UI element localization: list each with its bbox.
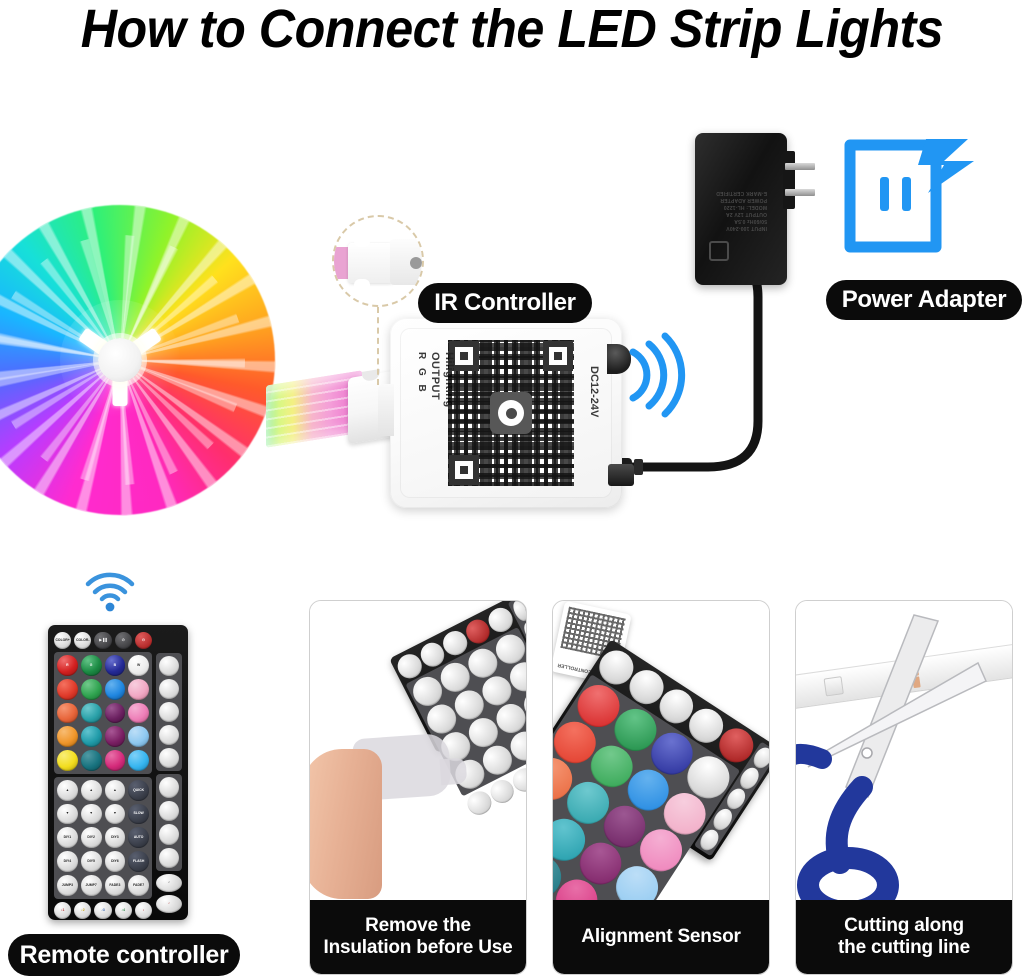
button-power[interactable]: ⏻	[135, 632, 152, 649]
button-play-pause[interactable]: ▶▐▐	[94, 632, 111, 649]
color-button[interactable]	[81, 726, 102, 747]
side-button-b-up[interactable]	[159, 702, 179, 722]
adapter-print-text: INPUT 100-240V 50/60Hz 0.5AOUTPUT 12V 2A…	[705, 157, 767, 231]
callout-pin	[410, 257, 422, 269]
callout-leader-line	[377, 307, 379, 385]
color-button[interactable]	[128, 703, 149, 724]
remote-side-panel-bottom	[156, 774, 182, 871]
color-button[interactable]	[81, 679, 102, 700]
button-blue[interactable]: B	[105, 655, 126, 676]
remote-body: COLOR+ COLOR- ▶▐▐ ⏻ ⏻ R G B W	[48, 625, 188, 920]
remote-row-music: ♪1 ♪2 ♪3 ♪4 ♪	[54, 902, 152, 919]
button-red-down[interactable]: ▼	[57, 804, 78, 825]
button-color-down[interactable]: COLOR-	[74, 632, 91, 649]
button-green-up[interactable]: ▲	[81, 780, 102, 801]
remote-row-diy2: DIY4 DIY5 DIY6 FLASH	[57, 851, 149, 872]
label-power-adapter: Power Adapter	[826, 280, 1022, 320]
color-button[interactable]	[105, 750, 126, 771]
qr-finder-icon	[449, 341, 479, 371]
adapter-prong-base	[783, 151, 795, 209]
remote-row-bright-up: ▲ ▲ ▲ QUICK	[57, 780, 149, 801]
side-button-music-m[interactable]: ♪	[156, 895, 182, 913]
dc-input-jack	[608, 464, 634, 486]
button-music3[interactable]: ♪3	[94, 902, 111, 919]
button-standby[interactable]: ⏻	[115, 632, 132, 649]
card-photo	[310, 601, 526, 900]
remote-color-panel: R G B W	[54, 652, 152, 774]
remote-row-bright-down: ▼ ▼ ▼ SLOW	[57, 804, 149, 825]
color-button[interactable]	[81, 750, 102, 771]
led-strip-reel	[0, 205, 275, 515]
button-green-down[interactable]: ▼	[81, 804, 102, 825]
button-red-up[interactable]: ▲	[57, 780, 78, 801]
button-slow[interactable]: SLOW	[128, 804, 149, 825]
button-jump7[interactable]: JUMP7	[81, 875, 102, 896]
caption-line-1: Alignment Sensor	[581, 926, 740, 948]
side-button-preset-4[interactable]	[159, 848, 179, 869]
ir-signal-waves-icon	[625, 330, 695, 420]
remote-row-colors	[57, 750, 149, 771]
adapter-certification-mark-icon	[709, 241, 729, 261]
button-quick[interactable]: QUICK	[128, 780, 149, 801]
remote-main-buttons: COLOR+ COLOR- ▶▐▐ ⏻ ⏻ R G B W	[54, 632, 152, 913]
mini-remote-tilted	[389, 601, 526, 753]
side-button-music-s[interactable]: ♪	[156, 874, 182, 892]
button-diy4[interactable]: DIY4	[57, 851, 78, 872]
button-auto[interactable]: AUTO	[128, 827, 149, 848]
color-button[interactable]	[105, 703, 126, 724]
connector-zoom-callout	[332, 215, 424, 307]
button-diy6[interactable]: DIY6	[105, 851, 126, 872]
button-blue-up[interactable]: ▲	[105, 780, 126, 801]
side-button-preset-3[interactable]	[159, 824, 179, 845]
remote-side-buttons: ♪ ♪	[156, 632, 182, 913]
button-music-mode[interactable]: ♪	[135, 902, 152, 919]
card-photo	[796, 601, 1012, 900]
qr-finder-icon	[449, 455, 479, 485]
button-music4[interactable]: ♪4	[115, 902, 132, 919]
button-diy3[interactable]: DIY3	[105, 827, 126, 848]
card-alignment-sensor[interactable]: LED CONTROLLER	[552, 600, 770, 975]
caption-line-2: Insulation before Use	[323, 937, 512, 958]
controller-voltage-label: DC12-24V	[588, 366, 600, 417]
remote-side-panel-top	[156, 653, 182, 771]
button-music2[interactable]: ♪2	[74, 902, 91, 919]
remote-row-rgbw: R G B W	[57, 655, 149, 676]
side-button-preset-2[interactable]	[159, 801, 179, 822]
remote-row-diy1: DIY1 DIY2 DIY3 AUTO	[57, 827, 149, 848]
remote-function-panel: ▲ ▲ ▲ QUICK ▼ ▼ ▼ SLOW DIY1	[54, 777, 152, 899]
color-button[interactable]	[81, 703, 102, 724]
label-ir-controller: IR Controller	[418, 283, 592, 323]
card-caption: Remove the Insulation before Use	[310, 900, 526, 974]
qr-center-logo-icon	[490, 392, 532, 434]
side-button-g-up[interactable]	[159, 679, 179, 699]
scissors-icon	[796, 601, 1012, 900]
controller-output-label: OUTPUT	[429, 352, 441, 400]
card-cutting-line[interactable]: Cutting along the cutting line	[795, 600, 1013, 975]
color-button[interactable]	[57, 703, 78, 724]
caption-line-1: Cutting along	[844, 915, 964, 936]
button-color-up[interactable]: COLOR+	[54, 632, 71, 649]
callout-connector-body	[348, 243, 394, 283]
adapter-prong	[785, 189, 815, 196]
color-button[interactable]	[57, 750, 78, 771]
remote-controller[interactable]: COLOR+ COLOR- ▶▐▐ ⏻ ⏻ R G B W	[48, 625, 188, 920]
lightning-bolt-icon	[918, 139, 974, 193]
color-button[interactable]	[57, 679, 78, 700]
page-title: How to Connect the LED Strip Lights	[36, 0, 988, 60]
button-flash[interactable]: FLASH	[128, 851, 149, 872]
button-red[interactable]: R	[57, 655, 78, 676]
adapter-prong	[785, 163, 815, 170]
remote-row-modes: JUMP3 JUMP7 FADE3 FADE7	[57, 875, 149, 896]
hand-finger	[310, 749, 382, 899]
power-adapter: INPUT 100-240V 50/60Hz 0.5AOUTPUT 12V 2A…	[695, 133, 787, 285]
qr-code	[448, 340, 574, 486]
button-diy2[interactable]: DIY2	[81, 827, 102, 848]
color-button[interactable]	[105, 679, 126, 700]
color-button[interactable]	[57, 726, 78, 747]
side-button-preset-1[interactable]	[159, 777, 179, 798]
remote-row-colors	[57, 726, 149, 747]
button-blue-down[interactable]: ▼	[105, 804, 126, 825]
button-fade3[interactable]: FADE3	[105, 875, 126, 896]
side-button-w-down[interactable]	[159, 748, 179, 768]
caption-line-2: the cutting line	[838, 937, 970, 958]
qr-finder-icon	[543, 341, 573, 371]
button-fade7[interactable]: FADE7	[128, 875, 149, 896]
reel-hub-cap	[98, 338, 142, 382]
remote-row-colors	[57, 703, 149, 724]
card-remove-insulation[interactable]: Remove the Insulation before Use	[309, 600, 527, 975]
button-jump3[interactable]: JUMP3	[57, 875, 78, 896]
power-outlet-icon	[840, 135, 978, 257]
controller-side-tab	[378, 384, 394, 436]
color-button[interactable]	[128, 679, 149, 700]
button-diy1[interactable]: DIY1	[57, 827, 78, 848]
remote-row-colors	[57, 679, 149, 700]
color-button[interactable]	[128, 750, 149, 771]
ir-controller: R G B OUTPUT Hilighting DC12-24V	[390, 318, 622, 508]
side-button-w-up[interactable]	[159, 725, 179, 745]
button-white[interactable]: W	[128, 655, 149, 676]
card-caption: Alignment Sensor	[553, 900, 769, 974]
color-button[interactable]	[128, 726, 149, 747]
side-button-r-up[interactable]	[159, 656, 179, 676]
remote-row-top: COLOR+ COLOR- ▶▐▐ ⏻ ⏻	[54, 632, 152, 649]
wifi-signal-icon	[82, 566, 138, 612]
infographic-page: How to Connect the LED Strip Lights IR C…	[0, 0, 1024, 979]
button-diy5[interactable]: DIY5	[81, 851, 102, 872]
caption-line-1: Remove the	[365, 915, 471, 936]
card-photo: LED CONTROLLER	[553, 601, 769, 900]
controller-pin-labels: R G B	[416, 352, 427, 395]
label-remote-controller: Remote controller	[8, 934, 240, 976]
card-caption: Cutting along the cutting line	[796, 900, 1012, 974]
button-green[interactable]: G	[81, 655, 102, 676]
button-music1[interactable]: ♪1	[54, 902, 71, 919]
color-button[interactable]	[105, 726, 126, 747]
